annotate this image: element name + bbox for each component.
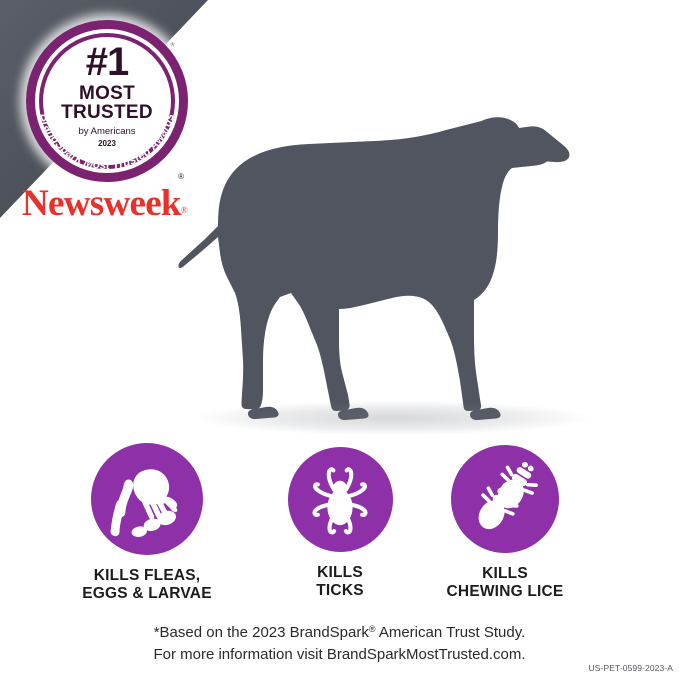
flea-eggs-larvae-icon	[104, 456, 190, 542]
newsweek-wordmark-text: Newsweek	[22, 183, 181, 224]
badge-year: 2023	[98, 139, 116, 148]
benefit-item-lice: KILLS CHEWING LICE	[420, 443, 590, 602]
benefit-bubble-ticks	[288, 447, 393, 552]
badge-most: MOST	[79, 84, 135, 103]
tick-icon	[303, 463, 377, 537]
document-code: US-PET-0599-2023-A	[589, 663, 673, 673]
chewing-lice-icon	[465, 459, 545, 539]
infographic-canvas: * BrandSpark Most Trusted Awards #1 MOST…	[0, 0, 679, 679]
benefit-item-fleas: KILLS FLEAS, EGGS & LARVAE	[62, 443, 232, 604]
benefit-bubble-fleas	[91, 443, 203, 555]
dog-silhouette-container	[178, 105, 598, 445]
benefit-label-lice: KILLS CHEWING LICE	[420, 565, 590, 602]
footer-line-1-suffix: American Trust Study.	[376, 624, 526, 641]
benefits-row: KILLS FLEAS, EGGS & LARVAE	[0, 443, 679, 613]
benefit-label-fleas: KILLS FLEAS, EGGS & LARVAE	[62, 567, 232, 604]
badge-rank: #1	[86, 44, 129, 81]
dog-silhouette-icon	[178, 105, 598, 445]
benefit-bubble-lice	[451, 445, 559, 553]
footer-line-2: For more information visit BrandSparkMos…	[0, 644, 679, 666]
footer-line-1-prefix: *Based on the 2023 BrandSpark	[154, 624, 369, 641]
badge-seal: BrandSpark Most Trusted Awards #1 MOST T…	[26, 20, 188, 182]
benefit-item-ticks: KILLS TICKS	[255, 443, 425, 601]
newsweek-wordmark: Newsweek®	[22, 185, 187, 222]
dog-ground-shadow	[198, 401, 588, 435]
footer-disclaimer: *Based on the 2023 BrandSpark® American …	[0, 622, 679, 666]
footer-registered-mark: ®	[369, 624, 376, 634]
badge-byline: by Americans	[78, 126, 135, 137]
badge-core-text: #1 MOST TRUSTED by Americans 2023	[26, 20, 188, 182]
benefit-label-ticks: KILLS TICKS	[255, 564, 425, 601]
footer-line-1: *Based on the 2023 BrandSpark® American …	[0, 622, 679, 644]
badge-trusted: TRUSTED	[61, 103, 153, 122]
